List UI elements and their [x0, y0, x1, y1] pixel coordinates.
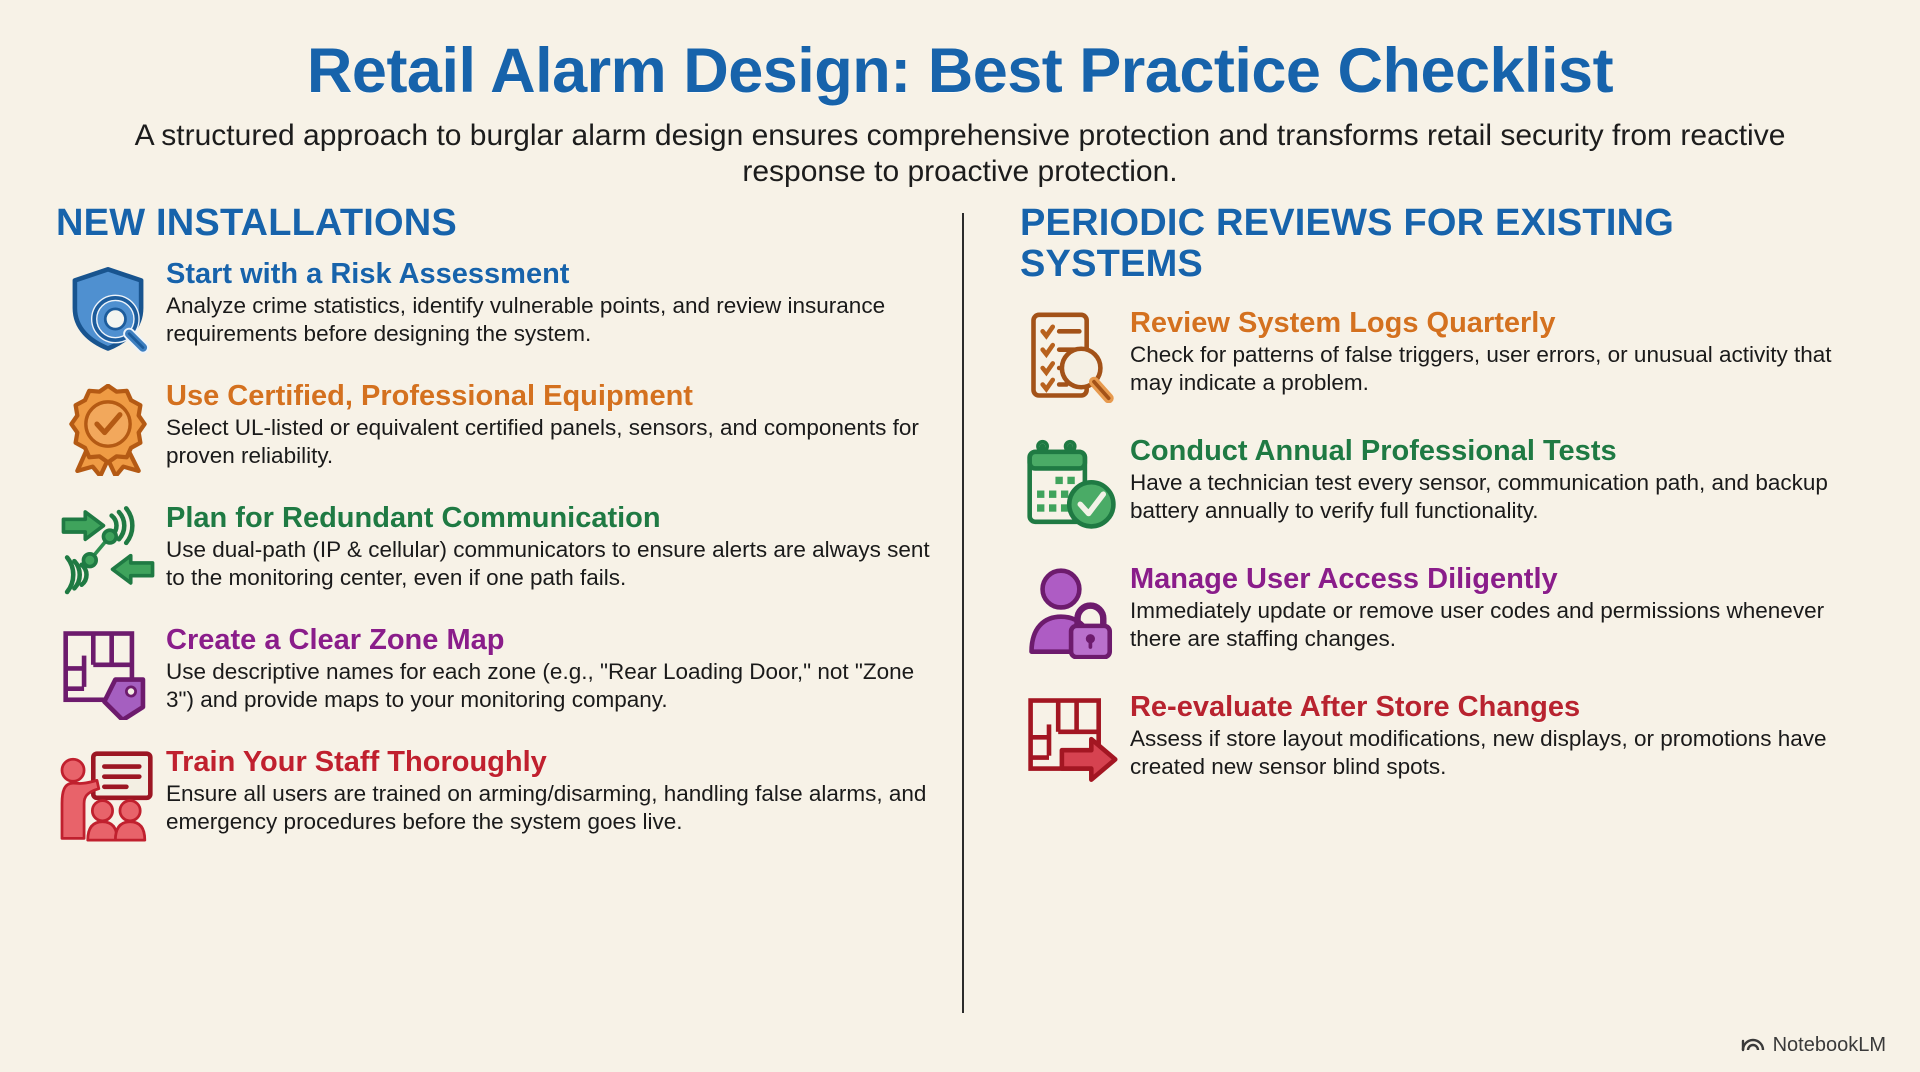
list-item-body: Conduct Annual Professional Tests Have a…	[1124, 435, 1864, 525]
left-column-heading: NEW INSTALLATIONS	[56, 203, 930, 244]
list-item-title: Use Certified, Professional Equipment	[166, 380, 930, 412]
list-item-title: Start with a Risk Assessment	[166, 258, 930, 290]
column-divider	[962, 213, 964, 1013]
list-item-body: Start with a Risk Assessment Analyze cri…	[160, 258, 930, 348]
list-item-title: Create a Clear Zone Map	[166, 624, 930, 656]
footer-watermark: NotebookLM	[1741, 1032, 1886, 1058]
list-item-body: Use Certified, Professional Equipment Se…	[160, 380, 930, 470]
shield-magnifier-icon	[56, 262, 160, 354]
list-item-body: Review System Logs Quarterly Check for p…	[1124, 307, 1864, 397]
list-item-desc: Use dual-path (IP & cellular) communicat…	[166, 536, 930, 592]
notebooklm-logo-icon	[1741, 1032, 1765, 1058]
floorplan-arrow-icon	[1020, 695, 1124, 787]
left-column: NEW INSTALLATIONS Start with a Risk	[56, 203, 960, 868]
list-item-title: Train Your Staff Thoroughly	[166, 746, 930, 778]
list-item-title: Manage User Access Diligently	[1130, 563, 1864, 595]
list-item: Plan for Redundant Communication Use dua…	[56, 502, 930, 598]
right-column-heading: PERIODIC REVIEWS FOR EXISTING SYSTEMS	[1020, 203, 1864, 285]
checklist-magnifier-icon	[1020, 311, 1124, 403]
list-item-title: Plan for Redundant Communication	[166, 502, 930, 534]
list-item-body: Manage User Access Diligently Immediatel…	[1124, 563, 1864, 653]
infographic-page: Retail Alarm Design: Best Practice Check…	[0, 0, 1920, 1072]
list-item-desc: Immediately update or remove user codes …	[1130, 597, 1864, 653]
footer-watermark-label: NotebookLM	[1773, 1034, 1886, 1057]
list-item: Train Your Staff Thoroughly Ensure all u…	[56, 746, 930, 842]
list-item-desc: Use descriptive names for each zone (e.g…	[166, 658, 930, 714]
list-item: Conduct Annual Professional Tests Have a…	[1020, 435, 1864, 531]
header: Retail Alarm Design: Best Practice Check…	[0, 0, 1920, 189]
list-item-body: Re-evaluate After Store Changes Assess i…	[1124, 691, 1864, 781]
floorplan-tag-icon	[56, 628, 160, 720]
list-item: Manage User Access Diligently Immediatel…	[1020, 563, 1864, 659]
list-item: Start with a Risk Assessment Analyze cri…	[56, 258, 930, 354]
calendar-check-icon	[1020, 439, 1124, 531]
list-item-title: Review System Logs Quarterly	[1130, 307, 1864, 339]
list-item-body: Create a Clear Zone Map Use descriptive …	[160, 624, 930, 714]
certified-badge-icon	[56, 384, 160, 476]
list-item-body: Plan for Redundant Communication Use dua…	[160, 502, 930, 592]
list-item-desc: Assess if store layout modifications, ne…	[1130, 725, 1864, 781]
list-item-desc: Have a technician test every sensor, com…	[1130, 469, 1864, 525]
list-item: Create a Clear Zone Map Use descriptive …	[56, 624, 930, 720]
list-item-title: Conduct Annual Professional Tests	[1130, 435, 1864, 467]
dual-path-signal-icon	[56, 506, 160, 598]
columns-container: NEW INSTALLATIONS Start with a Risk	[0, 203, 1920, 868]
list-item: Review System Logs Quarterly Check for p…	[1020, 307, 1864, 403]
user-lock-icon	[1020, 567, 1124, 659]
list-item-desc: Select UL-listed or equivalent certified…	[166, 414, 930, 470]
right-column: PERIODIC REVIEWS FOR EXISTING SYSTEMS	[960, 203, 1864, 868]
page-subtitle: A structured approach to burglar alarm d…	[130, 118, 1790, 189]
training-presentation-icon	[56, 750, 160, 842]
list-item-desc: Ensure all users are trained on arming/d…	[166, 780, 930, 836]
list-item: Re-evaluate After Store Changes Assess i…	[1020, 691, 1864, 787]
list-item-desc: Analyze crime statistics, identify vulne…	[166, 292, 930, 348]
list-item-body: Train Your Staff Thoroughly Ensure all u…	[160, 746, 930, 836]
page-title: Retail Alarm Design: Best Practice Check…	[60, 38, 1860, 104]
list-item: Use Certified, Professional Equipment Se…	[56, 380, 930, 476]
list-item-desc: Check for patterns of false triggers, us…	[1130, 341, 1864, 397]
list-item-title: Re-evaluate After Store Changes	[1130, 691, 1864, 723]
